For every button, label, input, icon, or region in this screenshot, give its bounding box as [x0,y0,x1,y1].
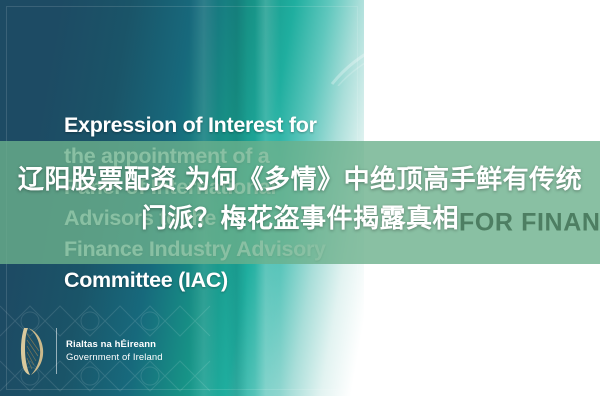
irish-harp-icon [17,325,47,377]
poster-headline-line-1: Expression of Interest for [64,110,364,141]
overlay-headline-line-2: 门派？梅花盗事件揭露真相 [0,199,600,238]
overlay-headline: 辽阳股票配资 为何《多情》中绝顶高手鲜有传统 门派？梅花盗事件揭露真相 [0,160,600,238]
government-wordmark: Rialtas na hÉireann Government of Irelan… [66,339,163,364]
logo-divider [56,328,57,374]
overlay-headline-line-1: 辽阳股票配资 为何《多情》中绝顶高手鲜有传统 [0,160,600,199]
screenshot-canvas: Expression of Interest for the appointme… [0,0,600,400]
poster-headline-line-6: Committee (IAC) [64,265,364,296]
government-of-ireland-logo: Rialtas na hÉireann Government of Irelan… [17,323,227,379]
wordmark-irish: Rialtas na hÉireann [66,339,163,351]
wordmark-english: Government of Ireland [66,352,163,364]
swoosh-arc-graphic [330,6,600,86]
